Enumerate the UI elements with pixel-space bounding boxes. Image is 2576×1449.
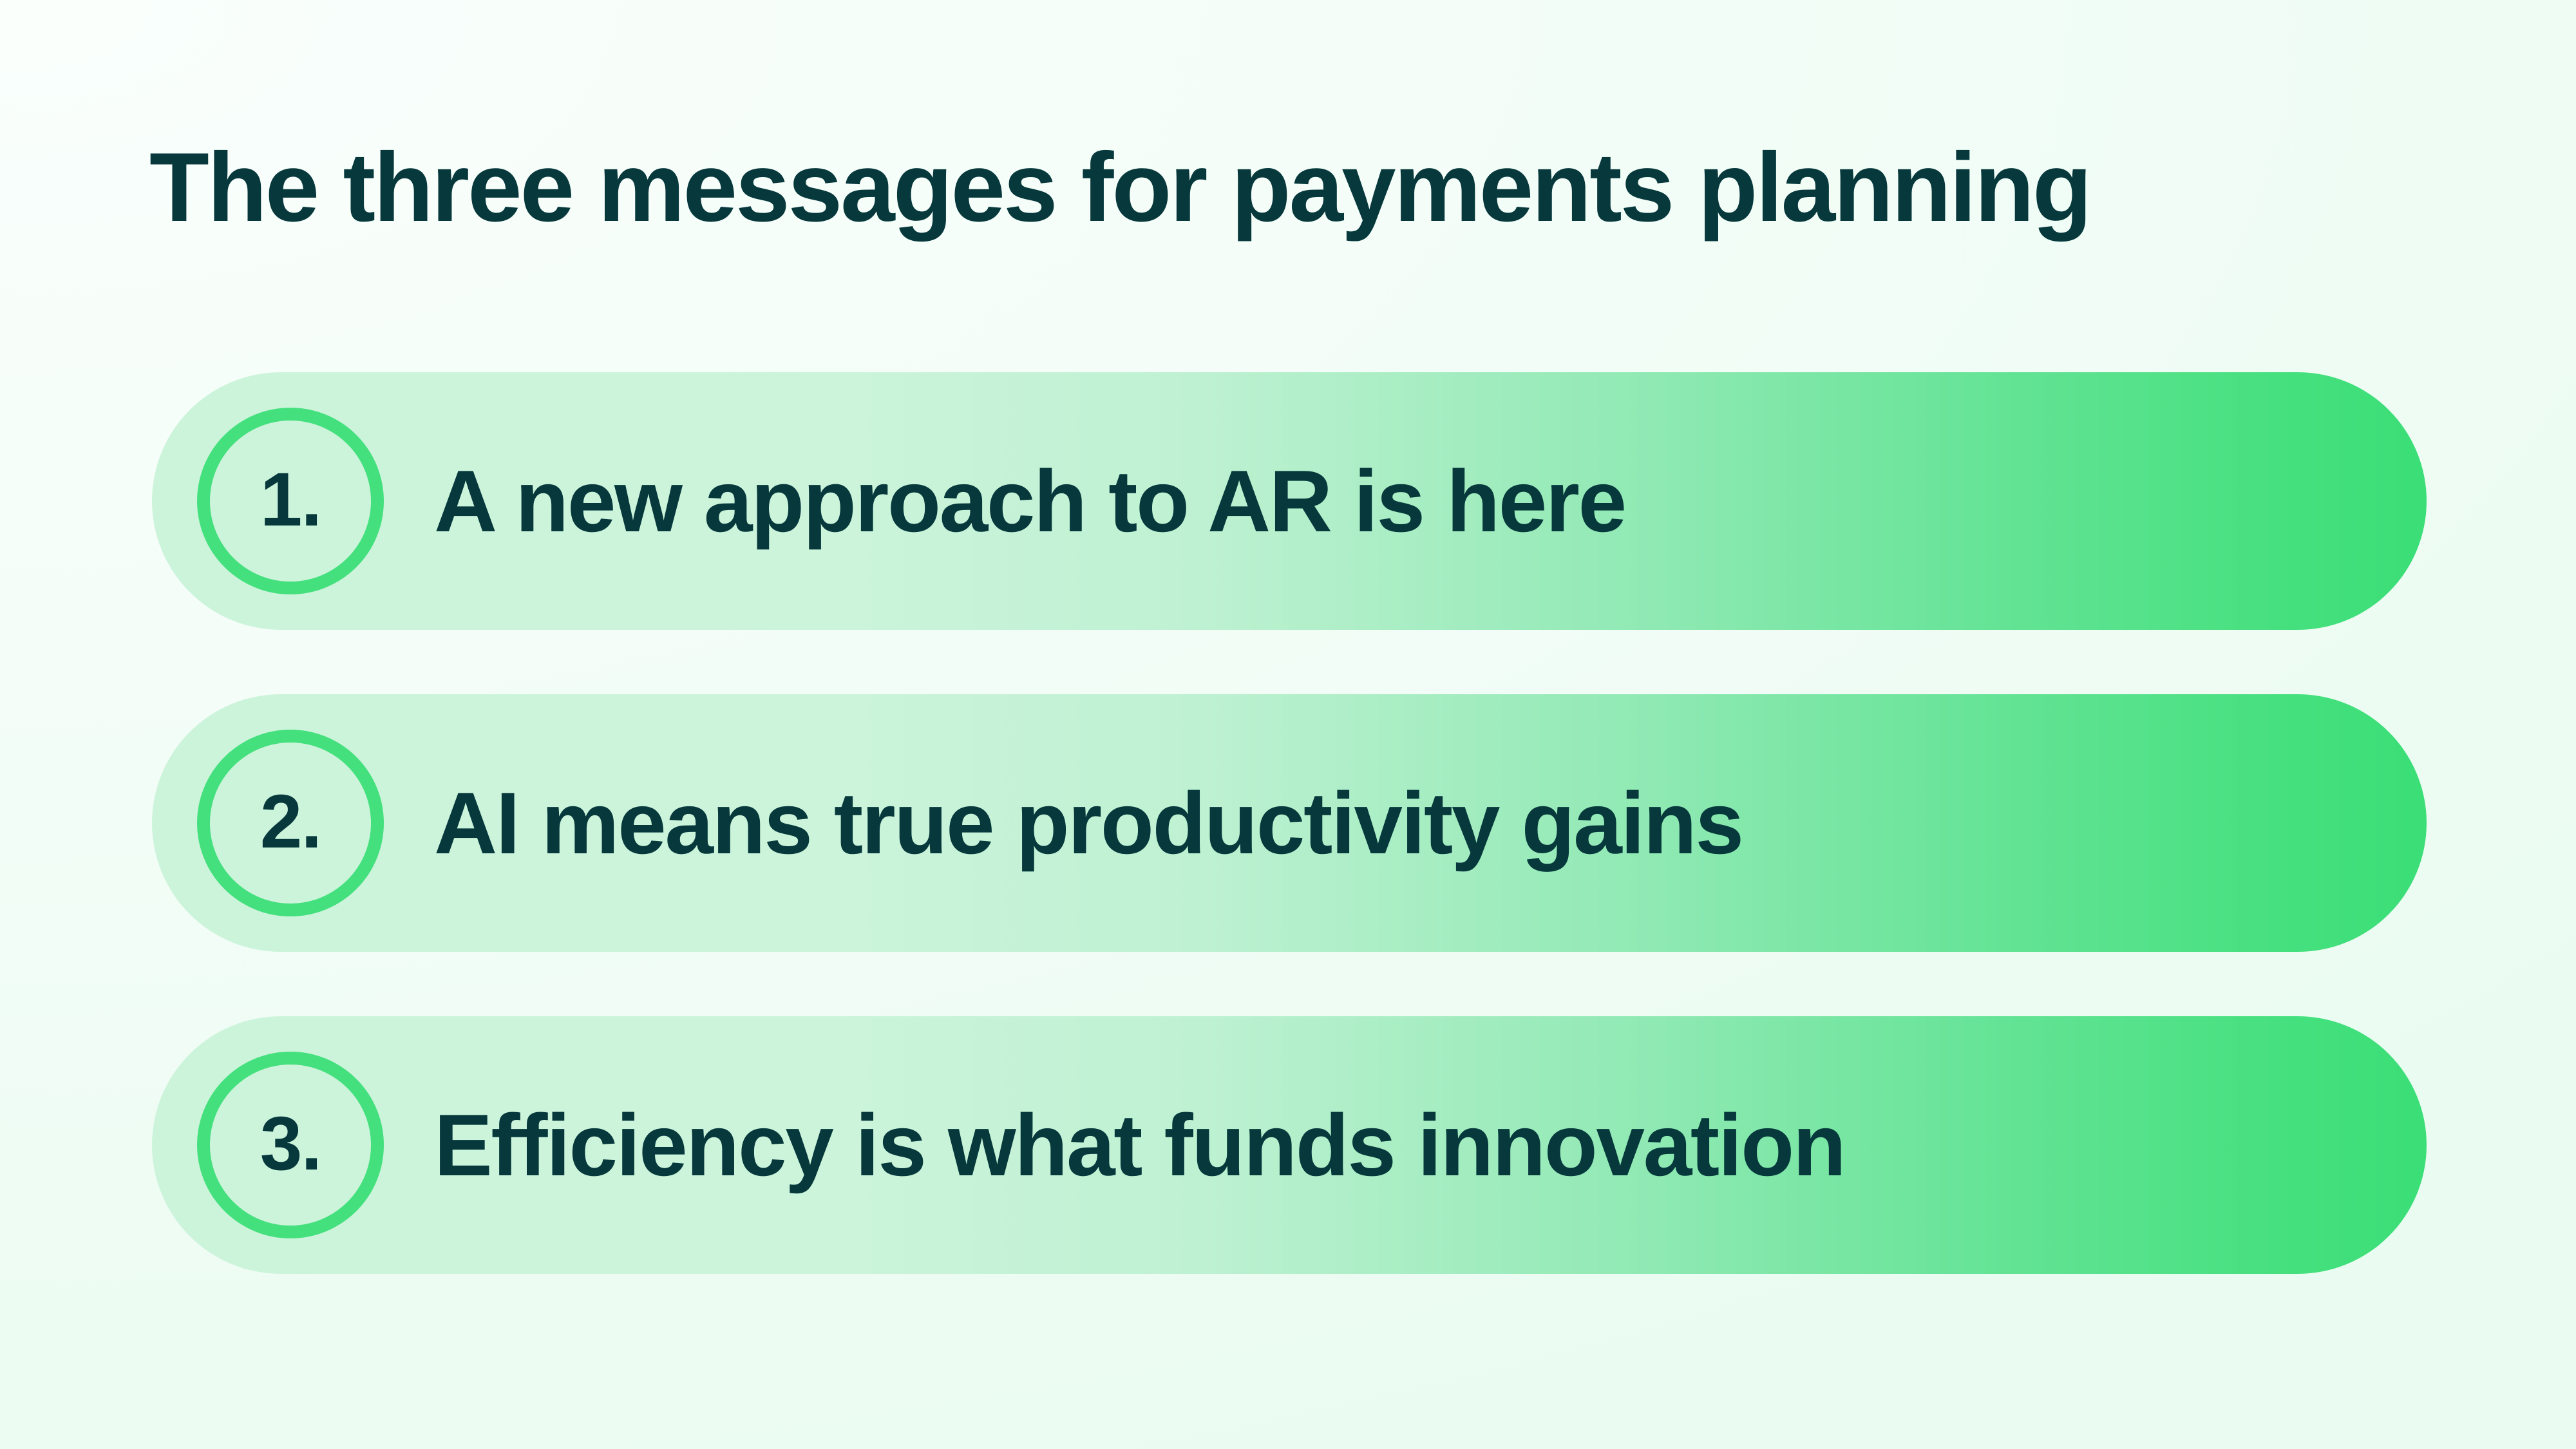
message-row-1[interactable]: 1. A new approach to AR is here — [152, 372, 2427, 630]
number-badge-1: 1. — [197, 408, 384, 594]
number-badge-label: 3. — [260, 1106, 321, 1182]
message-text-1: A new approach to AR is here — [434, 457, 2427, 545]
number-badge-3: 3. — [197, 1052, 384, 1238]
message-row-3[interactable]: 3. Efficiency is what funds innovation — [152, 1016, 2427, 1274]
message-text-3: Efficiency is what funds innovation — [434, 1101, 2427, 1189]
page-title: The three messages for payments planning — [149, 133, 2090, 242]
message-row-2[interactable]: 2. AI means true productivity gains — [152, 694, 2427, 952]
slide-canvas: The three messages for payments planning… — [0, 0, 2576, 1449]
message-text-2: AI means true productivity gains — [434, 779, 2427, 867]
number-badge-label: 1. — [260, 462, 321, 538]
number-badge-label: 2. — [260, 784, 321, 860]
number-badge-2: 2. — [197, 730, 384, 916]
